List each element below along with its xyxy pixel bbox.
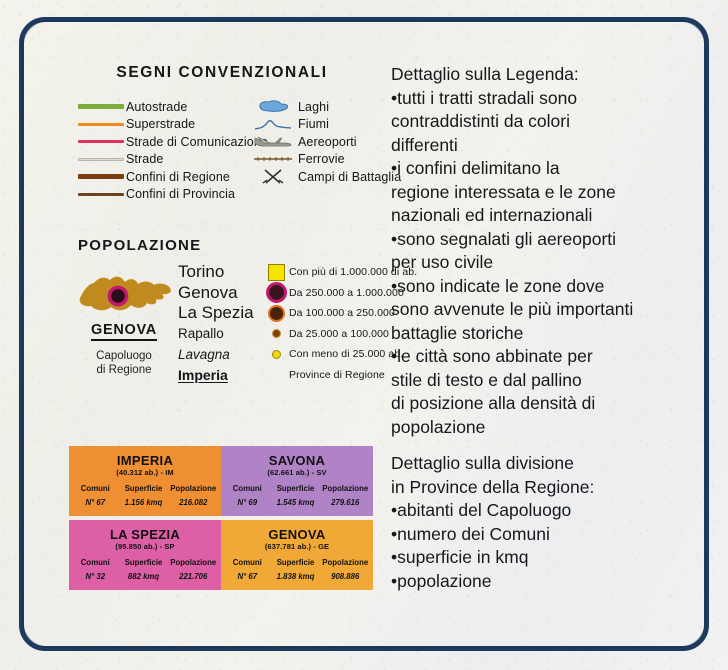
lake-icon [248,99,298,114]
legend-symbols-column: Laghi Fiumi Aereoporti [248,98,396,203]
capoluogo-caption: Capoluogo di Regione [70,349,178,377]
legend-row-aereoporti[interactable]: Aereoporti [248,133,396,151]
legend-note-line: di posizione alla densità di [391,392,691,416]
population-row-genova[interactable]: Genova Da 250.000 a 1.000.000 [178,283,417,304]
province-comuni-savona: N° 69 [225,498,270,507]
river-icon [248,118,298,131]
province-comuni-genova: N° 67 [225,572,270,581]
province-note-line: •numero dei Comuni [391,523,691,547]
province-name-savona: SAVONA [225,453,369,468]
province-sub-savona: (62.661 ab.) - SV [225,468,369,477]
legend-title: SEGNI CONVENZIONALI [62,64,382,82]
col-header-superficie: Superficie [270,558,322,567]
swords-icon [248,169,298,185]
province-values-row-imperia: N° 67 1.156 kmq 216.082 [73,498,217,507]
population-desc-imperia: Province di Regione [289,369,385,381]
province-comuni-la-spezia: N° 32 [73,572,118,581]
province-header-row-genova: Comuni Superficie Popolazione [225,558,369,567]
legend-row-autostrade[interactable]: Autostrade [76,98,248,116]
legend-note-line: •i confini delimitano la [391,157,691,181]
legend-note-line: differenti [391,134,691,158]
legend-label-autostrade: Autostrade [126,100,187,114]
legend-lines-column: Autostrade Superstrade Strade di Comunic… [76,98,248,203]
col-header-comuni: Comuni [73,558,118,567]
legend-note-line: •tutti i tratti stradali sono [391,87,691,111]
line-gray-icon [76,158,126,161]
square-yellow-icon [263,264,289,281]
provinces-notes-block: Dettaglio sulla divisione in Province de… [391,452,691,593]
province-header-row-imperia: Comuni Superficie Popolazione [73,484,217,493]
population-desc-la-spezia: Da 100.000 a 250.000 [289,307,395,319]
province-name-la-spezia: LA SPEZIA [73,527,217,542]
population-legend-list: Torino Con più di 1.000.000 di ab. Genov… [178,258,417,385]
province-sub-imperia: (40.312 ab.) - IM [73,468,217,477]
legend-note-line: regione interessata e le zone [391,181,691,205]
legend-label-strade: Strade [126,152,163,166]
col-header-popolazione: Popolazione [169,558,217,567]
province-popolazione-la-spezia: 221.706 [169,572,217,581]
legend-label-fiumi: Fiumi [298,117,329,131]
provinces-table-panel: IMPERIA (40.312 ab.) - IM Comuni Superfi… [69,446,373,590]
legend-note-line: contraddistinti da colori [391,110,691,134]
province-values-row-la-spezia: N° 32 882 kmq 221.706 [73,572,217,581]
population-city-torino: Torino [178,262,263,282]
legend-label-superstrade: Superstrade [126,117,195,131]
province-popolazione-genova: 908.886 [321,572,369,581]
population-title: POPOLAZIONE [78,237,382,254]
liguria-region-shape-icon [70,268,178,320]
line-green-icon [76,104,126,109]
legend-note-line: per uso civile [391,251,691,275]
province-note-line: •abitanti del Capoluogo [391,499,691,523]
province-card-la-spezia[interactable]: LA SPEZIA (95.850 ab.) - SP Comuni Super… [69,520,221,590]
capoluogo-block: GENOVA Capoluogo di Regione [70,258,178,377]
legend-note-line: nazionali ed internazionali [391,204,691,228]
province-superficie-genova: 1.838 kmq [270,572,322,581]
population-city-genova: Genova [178,283,263,303]
legend-note-line: •sono indicate le zone dove [391,275,691,299]
railway-icon [248,155,298,163]
population-row-la-spezia[interactable]: La Spezia Da 100.000 a 250.000 [178,303,417,324]
legend-row-fiumi[interactable]: Fiumi [248,116,396,134]
legend-row-ferrovie[interactable]: Ferrovie [248,151,396,169]
legend-label-laghi: Laghi [298,100,329,114]
col-header-comuni: Comuni [225,558,270,567]
population-row-lavagna[interactable]: Lavagna Con meno di 25.000 ab. [178,344,417,365]
province-note-line: •superficie in kmq [391,546,691,570]
col-header-popolazione: Popolazione [321,484,369,493]
legend-note-line: stile di testo e dal pallino [391,369,691,393]
line-orange-icon [76,123,126,126]
ring-orange-icon [263,305,289,322]
province-name-genova: GENOVA [225,527,369,542]
legend-label-aereoporti: Aereoporti [298,135,357,149]
legend-row-strade[interactable]: Strade [76,151,248,169]
line-crimson-icon [76,140,126,143]
legend-grid: Autostrade Superstrade Strade di Comunic… [62,98,382,203]
province-header-row-savona: Comuni Superficie Popolazione [225,484,369,493]
legend-row-strade-comunicazione[interactable]: Strade di Comunicazione [76,133,248,151]
col-header-superficie: Superficie [270,484,322,493]
line-brown-icon [76,193,126,196]
dot-brown-icon [263,329,289,338]
legend-label-strade-comunicazione: Strade di Comunicazione [126,135,268,149]
legend-label-ferrovie: Ferrovie [298,152,345,166]
legend-row-confini-provincia[interactable]: Confini di Provincia [76,186,248,204]
line-darkbrown-icon [76,174,126,179]
province-superficie-savona: 1.545 kmq [270,498,322,507]
col-header-superficie: Superficie [118,558,170,567]
province-note-line: •popolazione [391,570,691,594]
ring-magenta-icon [263,282,289,303]
population-row-torino[interactable]: Torino Con più di 1.000.000 di ab. [178,262,417,283]
province-popolazione-savona: 279.616 [321,498,369,507]
legend-row-laghi[interactable]: Laghi [248,98,396,116]
province-note-line: Dettaglio sulla divisione [391,452,691,476]
province-card-genova[interactable]: GENOVA (637.781 ab.) - GE Comuni Superfi… [221,520,373,590]
province-header-row-la-spezia: Comuni Superficie Popolazione [73,558,217,567]
population-desc-lavagna: Con meno di 25.000 ab. [289,348,403,360]
population-city-lavagna: Lavagna [178,347,263,362]
legend-row-campi-battaglia[interactable]: Campi di Battaglia [248,168,396,186]
capoluogo-caption-line2: di Regione [70,363,178,377]
population-row-imperia[interactable]: Imperia Province di Regione [178,365,417,386]
legend-note-line: sono avvenute le più importanti [391,298,691,322]
province-note-line: in Province della Regione: [391,476,691,500]
capoluogo-name: GENOVA [91,322,157,341]
legend-row-superstrade[interactable]: Superstrade [76,116,248,134]
col-header-comuni: Comuni [73,484,118,493]
province-popolazione-imperia: 216.082 [169,498,217,507]
dot-yellow-icon [263,350,289,359]
province-values-row-savona: N° 69 1.545 kmq 279.616 [225,498,369,507]
capoluogo-caption-line1: Capoluogo [70,349,178,363]
province-comuni-imperia: N° 67 [73,498,118,507]
col-header-superficie: Superficie [118,484,170,493]
province-card-imperia[interactable]: IMPERIA (40.312 ab.) - IM Comuni Superfi… [69,446,221,516]
population-city-la-spezia: La Spezia [178,303,263,323]
legend-note-line: battaglie storiche [391,322,691,346]
population-desc-rapallo: Da 25.000 a 100.000 [289,328,389,340]
population-row-rapallo[interactable]: Rapallo Da 25.000 a 100.000 [178,324,417,345]
province-name-imperia: IMPERIA [73,453,217,468]
province-superficie-imperia: 1.156 kmq [118,498,170,507]
province-card-savona[interactable]: SAVONA (62.661 ab.) - SV Comuni Superfic… [221,446,373,516]
population-city-imperia: Imperia [178,367,263,383]
legend-label-campi-battaglia: Campi di Battaglia [298,170,401,184]
population-desc-genova: Da 250.000 a 1.000.000 [289,287,404,299]
left-column: SEGNI CONVENZIONALI Autostrade Superstra… [62,64,382,385]
airplane-icon [248,134,298,149]
province-sub-la-spezia: (95.850 ab.) - SP [73,542,217,551]
province-sub-genova: (637.781 ab.) - GE [225,542,369,551]
legend-notes-block: Dettaglio sulla Legenda: •tutti i tratti… [391,63,691,439]
province-values-row-genova: N° 67 1.838 kmq 908.886 [225,572,369,581]
legend-note-line: •le città sono abbinate per [391,345,691,369]
legend-label-confini-regione: Confini di Regione [126,170,230,184]
population-body: GENOVA Capoluogo di Regione Torino Con p… [70,258,382,385]
legend-note-line: popolazione [391,416,691,440]
legend-notes-heading: Dettaglio sulla Legenda: [391,63,691,87]
population-city-rapallo: Rapallo [178,326,263,341]
col-header-comuni: Comuni [225,484,270,493]
legend-label-confini-provincia: Confini di Provincia [126,187,235,201]
legend-row-confini-regione[interactable]: Confini di Regione [76,168,248,186]
col-header-popolazione: Popolazione [169,484,217,493]
col-header-popolazione: Popolazione [321,558,369,567]
legend-note-line: •sono segnalati gli aereoporti [391,228,691,252]
province-superficie-la-spezia: 882 kmq [118,572,170,581]
